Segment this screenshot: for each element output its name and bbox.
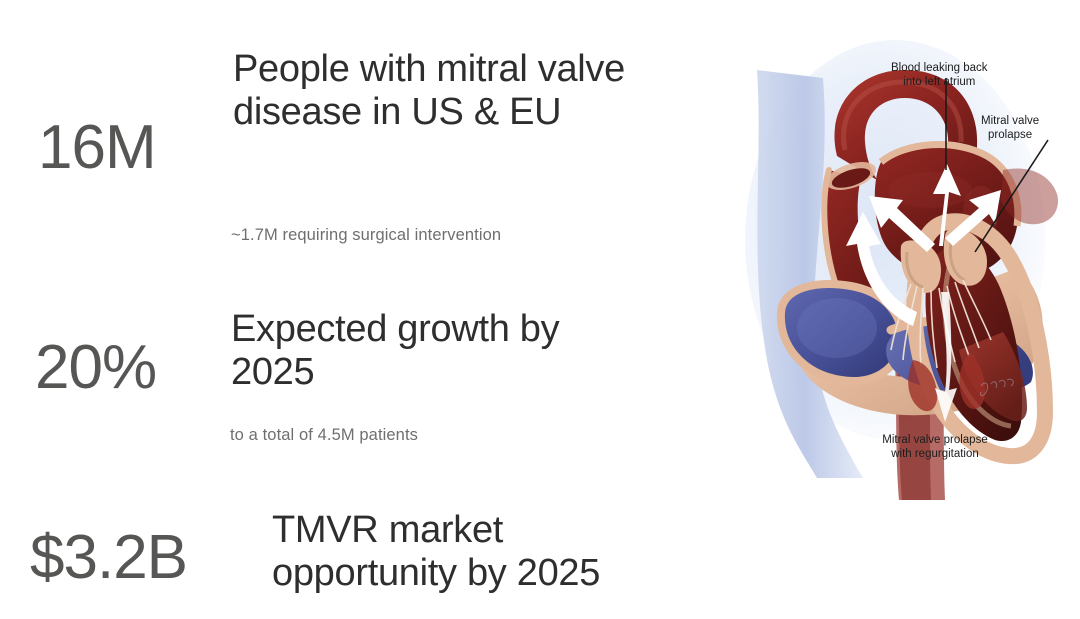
annotation-blood-leak-line1: Blood leaking back xyxy=(891,62,988,76)
stat-heading-1: People with mitral valve disease in US &… xyxy=(233,48,633,135)
stat-heading-3: TMVR market opportunity by 2025 xyxy=(272,509,672,596)
stat-figure-3: $3.2B xyxy=(30,527,187,589)
annotation-blood-leak-line2: into left atrium xyxy=(891,76,988,90)
stat-figure-2: 20% xyxy=(35,337,156,399)
slide-canvas: 16M People with mitral valve disease in … xyxy=(0,0,1080,619)
annotation-mitral-valve-prolapse: Mitral valve prolapse xyxy=(981,115,1039,142)
illustration-caption-line2: with regurgitation xyxy=(835,447,1035,461)
annotation-prolapse-line1: Mitral valve xyxy=(981,115,1039,129)
illustration-caption-line1: Mitral valve prolapse xyxy=(835,433,1035,447)
stat-note-2: to a total of 4.5M patients xyxy=(230,426,418,446)
illustration-caption: Mitral valve prolapse with regurgitation xyxy=(835,433,1035,461)
stat-figure-1: 16M xyxy=(38,117,156,179)
stat-note-1: ~1.7M requiring surgical intervention xyxy=(231,226,501,246)
heart-illustration: Blood leaking back into left atrium Mitr… xyxy=(745,30,1080,510)
annotation-blood-leak: Blood leaking back into left atrium xyxy=(891,62,988,89)
annotation-prolapse-line2: prolapse xyxy=(981,129,1039,143)
stat-heading-2: Expected growth by 2025 xyxy=(231,308,621,395)
